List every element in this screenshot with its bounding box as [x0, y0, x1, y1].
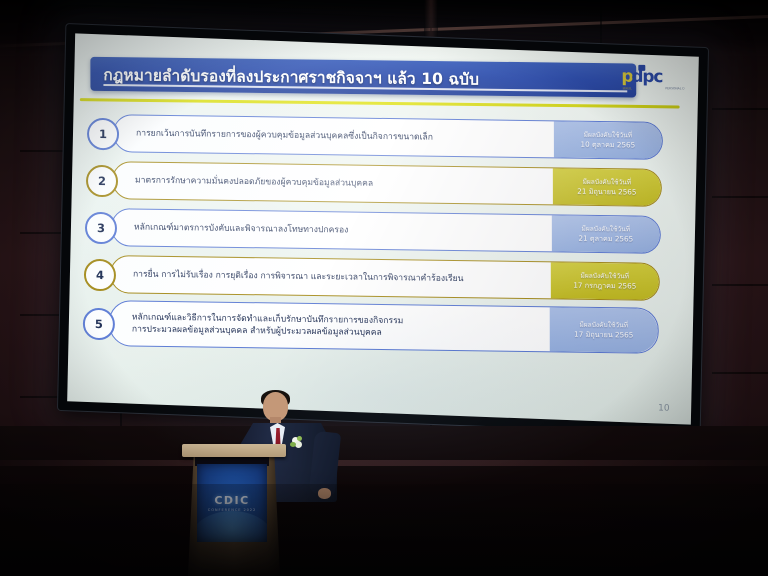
- row-text: หลักเกณฑ์มาตรการบังคับและพิจารณาลงโทษทาง…: [112, 221, 552, 240]
- row-number: 4: [84, 259, 116, 291]
- rows-container: การยกเว้นการบันทึกรายการของผู้ควบคุมข้อม…: [67, 95, 697, 424]
- slide-title-bar: กฎหมายลำดับรองที่ลงประกาศราชกิจจาฯ แล้ว …: [90, 57, 636, 98]
- stage-edge: [0, 460, 768, 466]
- foreground-shadow: [0, 484, 768, 576]
- list-item[interactable]: หลักเกณฑ์มาตรการบังคับและพิจารณาลงโทษทาง…: [85, 208, 661, 252]
- status-badge: มีผลบังคับใช้วันที่ 21 มิถุนายน 2565: [553, 168, 661, 206]
- row-pill[interactable]: หลักเกณฑ์มาตรการบังคับและพิจารณาลงโทษทาง…: [111, 208, 661, 254]
- row-text: มาตรการรักษาความมั่นคงปลอดภัยของผู้ควบคุ…: [113, 174, 553, 193]
- row-pill[interactable]: การยกเว้นการบันทึกรายการของผู้ควบคุมข้อม…: [113, 114, 663, 160]
- boutonniere-icon: [290, 436, 303, 450]
- list-item[interactable]: หลักเกณฑ์และวิธีการในการจัดทำและเก็บรักษ…: [83, 300, 659, 352]
- svg-text:สคส.: สคส.: [622, 86, 632, 92]
- row-pill[interactable]: หลักเกณฑ์และวิธีการในการจัดทำและเก็บรักษ…: [109, 300, 659, 354]
- badge-date: 10 ตุลาคม 2565: [581, 139, 636, 149]
- badge-date: 17 มิถุนายน 2565: [574, 329, 633, 340]
- page-number: 10: [658, 404, 669, 414]
- wall-seam: [712, 108, 768, 110]
- row-number: 5: [83, 308, 115, 340]
- row-number: 2: [86, 165, 118, 197]
- wall-seam: [712, 196, 768, 198]
- list-item[interactable]: การยื่น การไม่รับเรื่อง การยุติเรื่อง กา…: [84, 255, 660, 299]
- conference-hall-photo: กฎหมายลำดับรองที่ลงประกาศราชกิจจาฯ แล้ว …: [0, 0, 768, 576]
- projection-screen: กฎหมายลำดับรองที่ลงประกาศราชกิจจาฯ แล้ว …: [58, 24, 708, 434]
- status-badge: มีผลบังคับใช้วันที่ 17 กรกฎาคม 2565: [551, 262, 659, 300]
- lectern-top: [182, 444, 286, 457]
- row-pill[interactable]: การยื่น การไม่รับเรื่อง การยุติเรื่อง กา…: [110, 255, 660, 301]
- wall-seam: [712, 284, 768, 286]
- presentation-slide: กฎหมายลำดับรองที่ลงประกาศราชกิจจาฯ แล้ว …: [67, 33, 699, 424]
- list-item[interactable]: การยกเว้นการบันทึกรายการของผู้ควบคุมข้อม…: [87, 114, 663, 158]
- pdpc-logo: p d p c สคส. PERSONAL DATA: [620, 63, 684, 96]
- svg-text:c: c: [653, 67, 663, 87]
- list-item[interactable]: มาตรการรักษาความมั่นคงปลอดภัยของผู้ควบคุ…: [86, 161, 662, 205]
- status-badge: มีผลบังคับใช้วันที่ 21 ตุลาคม 2565: [552, 215, 660, 253]
- row-number: 1: [87, 118, 119, 150]
- badge-date: 21 ตุลาคม 2565: [578, 233, 633, 243]
- status-badge: มีผลบังคับใช้วันที่ 17 มิถุนายน 2565: [550, 307, 658, 353]
- badge-date: 17 กรกฎาคม 2565: [573, 280, 636, 291]
- badge-date: 21 มิถุนายน 2565: [577, 186, 636, 197]
- row-text: การยื่น การไม่รับเรื่อง การยุติเรื่อง กา…: [111, 268, 551, 287]
- svg-text:PERSONAL DATA: PERSONAL DATA: [665, 86, 684, 90]
- status-badge: มีผลบังคับใช้วันที่ 10 ตุลาคม 2565: [554, 121, 662, 159]
- row-text: หลักเกณฑ์และวิธีการในการจัดทำและเก็บรักษ…: [110, 311, 550, 342]
- row-number: 3: [85, 212, 117, 244]
- row-pill[interactable]: มาตรการรักษาความมั่นคงปลอดภัยของผู้ควบคุ…: [112, 161, 662, 207]
- wall-seam: [712, 372, 768, 374]
- row-text: การยกเว้นการบันทึกรายการของผู้ควบคุมข้อม…: [114, 127, 554, 146]
